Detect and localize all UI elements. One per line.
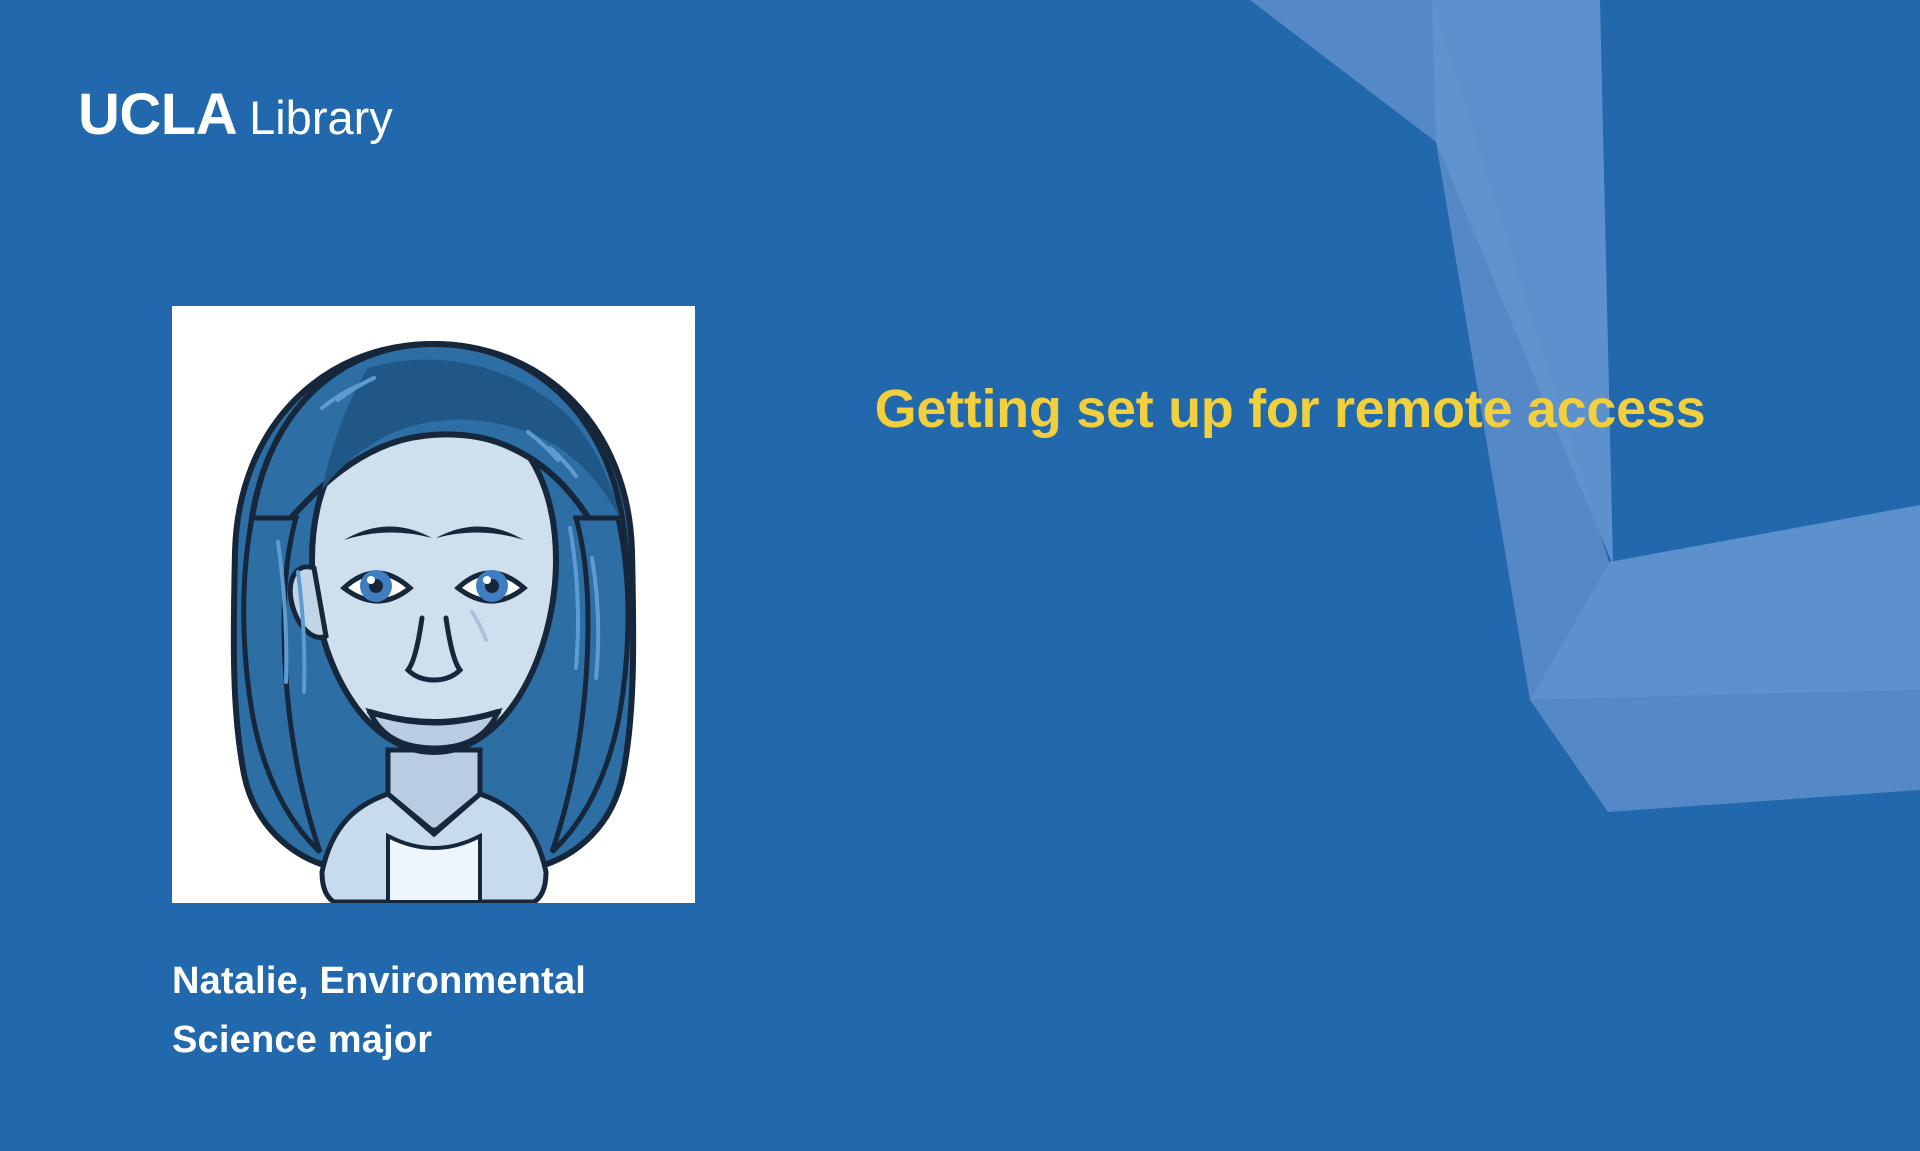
avatar-card [172, 306, 695, 903]
caption-line-2: Science major [172, 1011, 732, 1070]
caption-line-1: Natalie, Environmental [172, 952, 732, 1011]
logo-ucla-text: UCLA [78, 82, 237, 147]
avatar-caption: Natalie, Environmental Science major [172, 952, 732, 1070]
chevron-lower-arm [1530, 690, 1920, 812]
logo-library-text: Library [249, 91, 393, 144]
chevron-upper-highlight [1432, 0, 1613, 565]
chevron-lower-highlight [1530, 505, 1920, 700]
chevron-upper-arm [1250, 0, 1609, 700]
slide-headline: Getting set up for remote access [760, 378, 1820, 440]
slide-canvas: UCLALibrary [0, 0, 1920, 1151]
avatar-illustration [172, 306, 695, 903]
ucla-library-logo: UCLALibrary [78, 86, 393, 144]
